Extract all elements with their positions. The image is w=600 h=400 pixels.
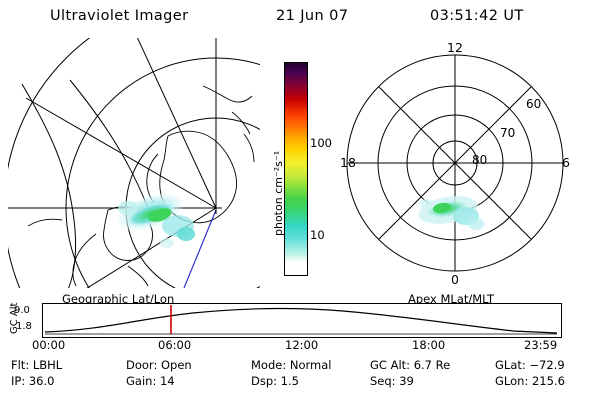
mlat-label-80: 80 [472, 153, 487, 167]
mlt-label-6: 6 [562, 155, 570, 170]
geographic-graticule [8, 38, 260, 288]
coastlines [28, 86, 254, 286]
status-row-2: IP: 36.0 Gain: 14 Dsp: 1.5 Seq: 39 GLon:… [8, 374, 592, 390]
strip-xtick-1200: 12:00 [285, 338, 318, 352]
instrument-title: Ultraviolet Imager [50, 8, 188, 24]
mlat-label-70: 70 [500, 126, 515, 140]
strip-ytick-min: 1.8 [16, 321, 32, 332]
door-status: Door: Open [126, 358, 192, 372]
gain-status: Gain: 14 [126, 374, 175, 388]
ip-status: IP: 36.0 [11, 374, 54, 388]
mlat-label-60: 60 [526, 97, 541, 111]
gc-altitude-strip-chart [42, 303, 562, 338]
strip-xtick-0000: 00:00 [32, 338, 65, 352]
mlt-spokes [347, 55, 563, 271]
header: Ultraviolet Imager 21 Jun 07 03:51:42 UT [0, 8, 600, 30]
auroral-emission-apex [416, 192, 484, 230]
uvi-summary-plot: Ultraviolet Imager 21 Jun 07 03:51:42 UT [0, 0, 600, 400]
apex-mlat-mlt-map: 12 18 6 0 60 70 80 [330, 38, 580, 288]
colorbar-title-wrap: photon cm⁻²s⁻¹ [258, 110, 278, 250]
geographic-map-svg [8, 38, 260, 288]
colorbar [284, 62, 306, 274]
strip-ytick-max: 9.0 [14, 305, 30, 316]
gc-alt-curve [45, 309, 557, 333]
strip-xtick-0600: 06:00 [158, 338, 191, 352]
gc-alt-status: GC Alt: 6.7 Re [370, 358, 450, 372]
observation-date: 21 Jun 07 [276, 8, 348, 24]
glon-status: GLon: 215.6 [495, 374, 565, 388]
colorbar-gradient [284, 62, 308, 276]
pole-marker [210, 202, 222, 214]
strip-xtick-2359: 23:59 [524, 338, 557, 352]
observation-time: 03:51:42 UT [430, 8, 524, 24]
mlt-label-12: 12 [447, 40, 463, 55]
mlt-label-0: 0 [451, 272, 459, 287]
colorbar-tick-100: 100 [310, 136, 332, 150]
geographic-polar-map [8, 38, 260, 288]
apex-map-svg: 12 18 6 0 60 70 80 [330, 38, 580, 288]
colorbar-tick-10: 10 [310, 228, 325, 242]
glat-status: GLat: −72.9 [495, 358, 565, 372]
status-footer: Flt: LBHL Door: Open Mode: Normal GC Alt… [8, 358, 592, 390]
seq-status: Seq: 39 [370, 374, 414, 388]
auroral-emission-geographic [113, 186, 195, 248]
strip-y-ticks: 9.0 1.8 [6, 303, 40, 336]
mlt-label-18: 18 [340, 155, 356, 170]
dsp-status: Dsp: 1.5 [251, 374, 299, 388]
filter-status: Flt: LBHL [11, 358, 62, 372]
mode-status: Mode: Normal [251, 358, 331, 372]
strip-xtick-1800: 18:00 [412, 338, 445, 352]
strip-chart-svg [43, 304, 559, 335]
status-row-1: Flt: LBHL Door: Open Mode: Normal GC Alt… [8, 358, 592, 374]
